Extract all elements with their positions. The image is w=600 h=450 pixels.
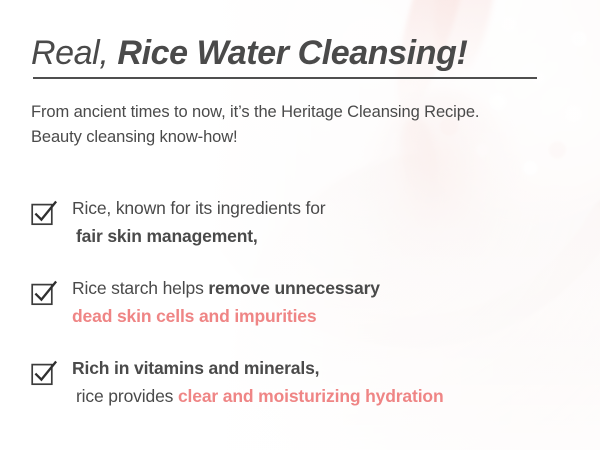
subheading-line-2: Beauty cleansing know-how! xyxy=(31,125,551,150)
checkbox-checked-icon xyxy=(31,280,57,306)
benefit-list: Rice, known for its ingredients for fair… xyxy=(0,192,600,432)
subheading-line-1: From ancient times to now, it’s the Heri… xyxy=(31,100,551,125)
text-run: dead skin cells and impurities xyxy=(72,306,316,326)
banner-content: Real, Rice Water Cleansing! From ancient… xyxy=(0,0,600,450)
text-run: Rice starch helps xyxy=(72,278,208,298)
text-run: clear and moisturizing hydration xyxy=(178,386,444,406)
list-item-text: Rice, known for its ingredients for fair… xyxy=(72,194,592,250)
text-run: remove unnecessary xyxy=(208,278,379,298)
text-run: fair skin management, xyxy=(76,226,258,246)
text-run: Rich in vitamins and minerals, xyxy=(72,358,319,378)
list-item-line: fair skin management, xyxy=(72,222,592,250)
list-item-line: Rich in vitamins and minerals, xyxy=(72,354,592,382)
text-run: rice provides xyxy=(76,386,178,406)
text-run: Rice, known for its ingredients for xyxy=(72,198,325,218)
rice-water-cleansing-banner: Real, Rice Water Cleansing! From ancient… xyxy=(0,0,600,450)
list-item-line: Rice, known for its ingredients for xyxy=(72,194,592,222)
list-item: Rice starch helps remove unnecessary dea… xyxy=(0,272,600,352)
page-title-bold: Rice Water Cleansing! xyxy=(108,34,467,72)
page-title: Real, Rice Water Cleansing! xyxy=(31,32,571,74)
page-title-light: Real, xyxy=(31,34,108,72)
list-item-text: Rice starch helps remove unnecessary dea… xyxy=(72,274,592,330)
checkbox-checked-icon xyxy=(31,360,57,386)
page-title-underline xyxy=(33,77,537,79)
list-item: Rice, known for its ingredients for fair… xyxy=(0,192,600,272)
list-item: Rich in vitamins and minerals, rice prov… xyxy=(0,352,600,432)
list-item-text: Rich in vitamins and minerals, rice prov… xyxy=(72,354,592,410)
list-item-line: Rice starch helps remove unnecessary xyxy=(72,274,592,302)
list-item-line: dead skin cells and impurities xyxy=(72,302,592,330)
subheading: From ancient times to now, it’s the Heri… xyxy=(31,100,551,150)
checkbox-checked-icon xyxy=(31,200,57,226)
list-item-line: rice provides clear and moisturizing hyd… xyxy=(72,382,592,410)
